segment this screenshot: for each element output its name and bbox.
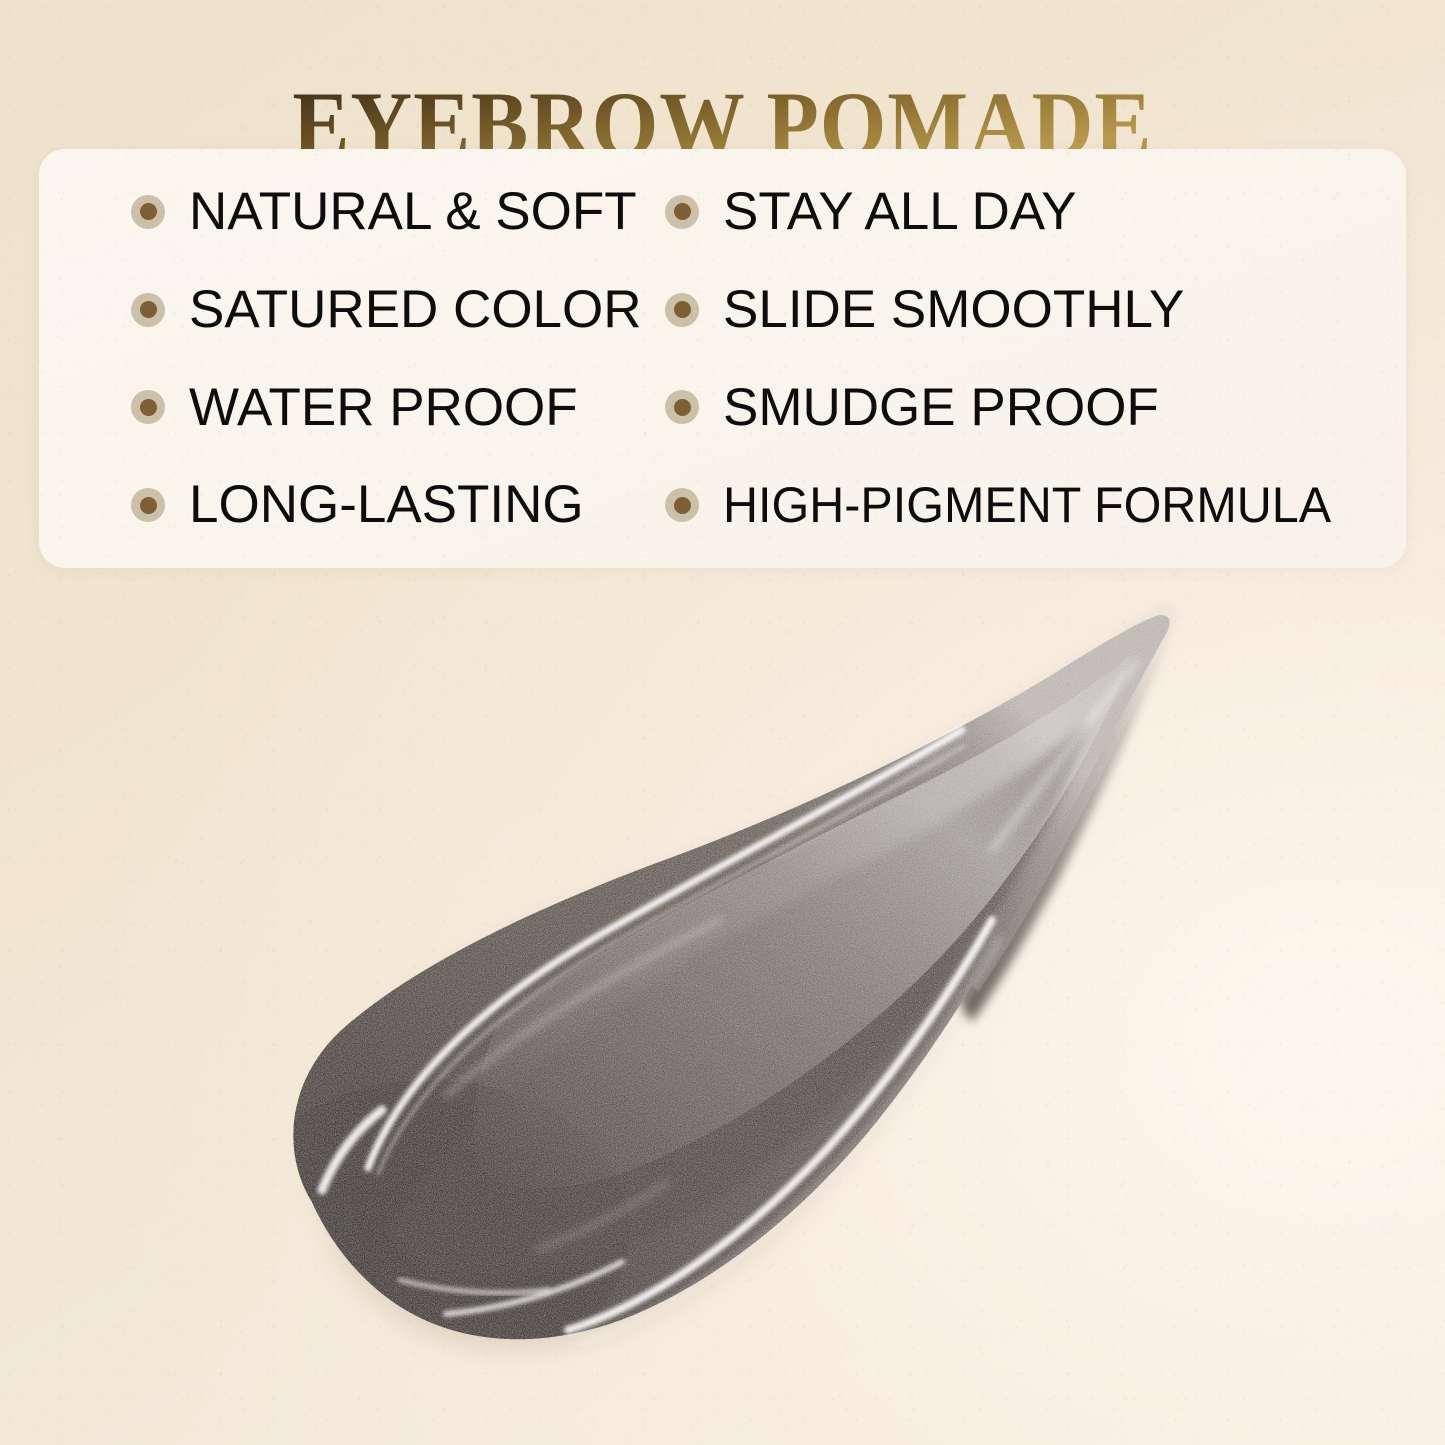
feature-item-water-proof: WATER PROOF: [39, 380, 639, 436]
feature-item-natural-and-soft: NATURAL & SOFT: [39, 184, 639, 240]
feature-label: NATURAL & SOFT: [189, 184, 637, 240]
pomade-swatch-illustration: [250, 590, 1250, 1430]
bullet-dot-icon: [665, 488, 699, 522]
feature-item-slide-smoothly: SLIDE SMOOTHLY: [639, 282, 1406, 338]
feature-label: LONG-LASTING: [189, 477, 584, 533]
bullet-dot-icon: [665, 390, 699, 424]
bullet-dot-icon: [131, 488, 165, 522]
feature-label: STAY ALL DAY: [723, 184, 1077, 240]
bullet-dot-icon: [131, 293, 165, 327]
feature-label: SMUDGE PROOF: [723, 380, 1159, 436]
feature-label: WATER PROOF: [189, 380, 578, 436]
bullet-dot-icon: [131, 195, 165, 229]
feature-grid: NATURAL & SOFT STAY ALL DAY SATURED COLO…: [39, 149, 1406, 568]
feature-label: SLIDE SMOOTHLY: [723, 282, 1184, 338]
feature-item-long-lasting: LONG-LASTING: [39, 477, 639, 533]
bullet-dot-icon: [131, 390, 165, 424]
feature-item-satured-color: SATURED COLOR: [39, 282, 639, 338]
bullet-dot-icon: [665, 195, 699, 229]
product-swatch-image: [250, 590, 1250, 1430]
bullet-dot-icon: [665, 293, 699, 327]
feature-item-smudge-proof: SMUDGE PROOF: [639, 380, 1406, 436]
product-marketing-image: EYEBROW POMADE NATURAL & SOFT STAY ALL D…: [0, 0, 1445, 1445]
feature-item-stay-all-day: STAY ALL DAY: [639, 184, 1406, 240]
feature-item-high-pigment-formula: HIGH-PIGMENT FORMULA: [639, 479, 1406, 532]
feature-label: SATURED COLOR: [189, 282, 642, 338]
feature-card: NATURAL & SOFT STAY ALL DAY SATURED COLO…: [39, 149, 1406, 568]
feature-label: HIGH-PIGMENT FORMULA: [723, 479, 1331, 532]
